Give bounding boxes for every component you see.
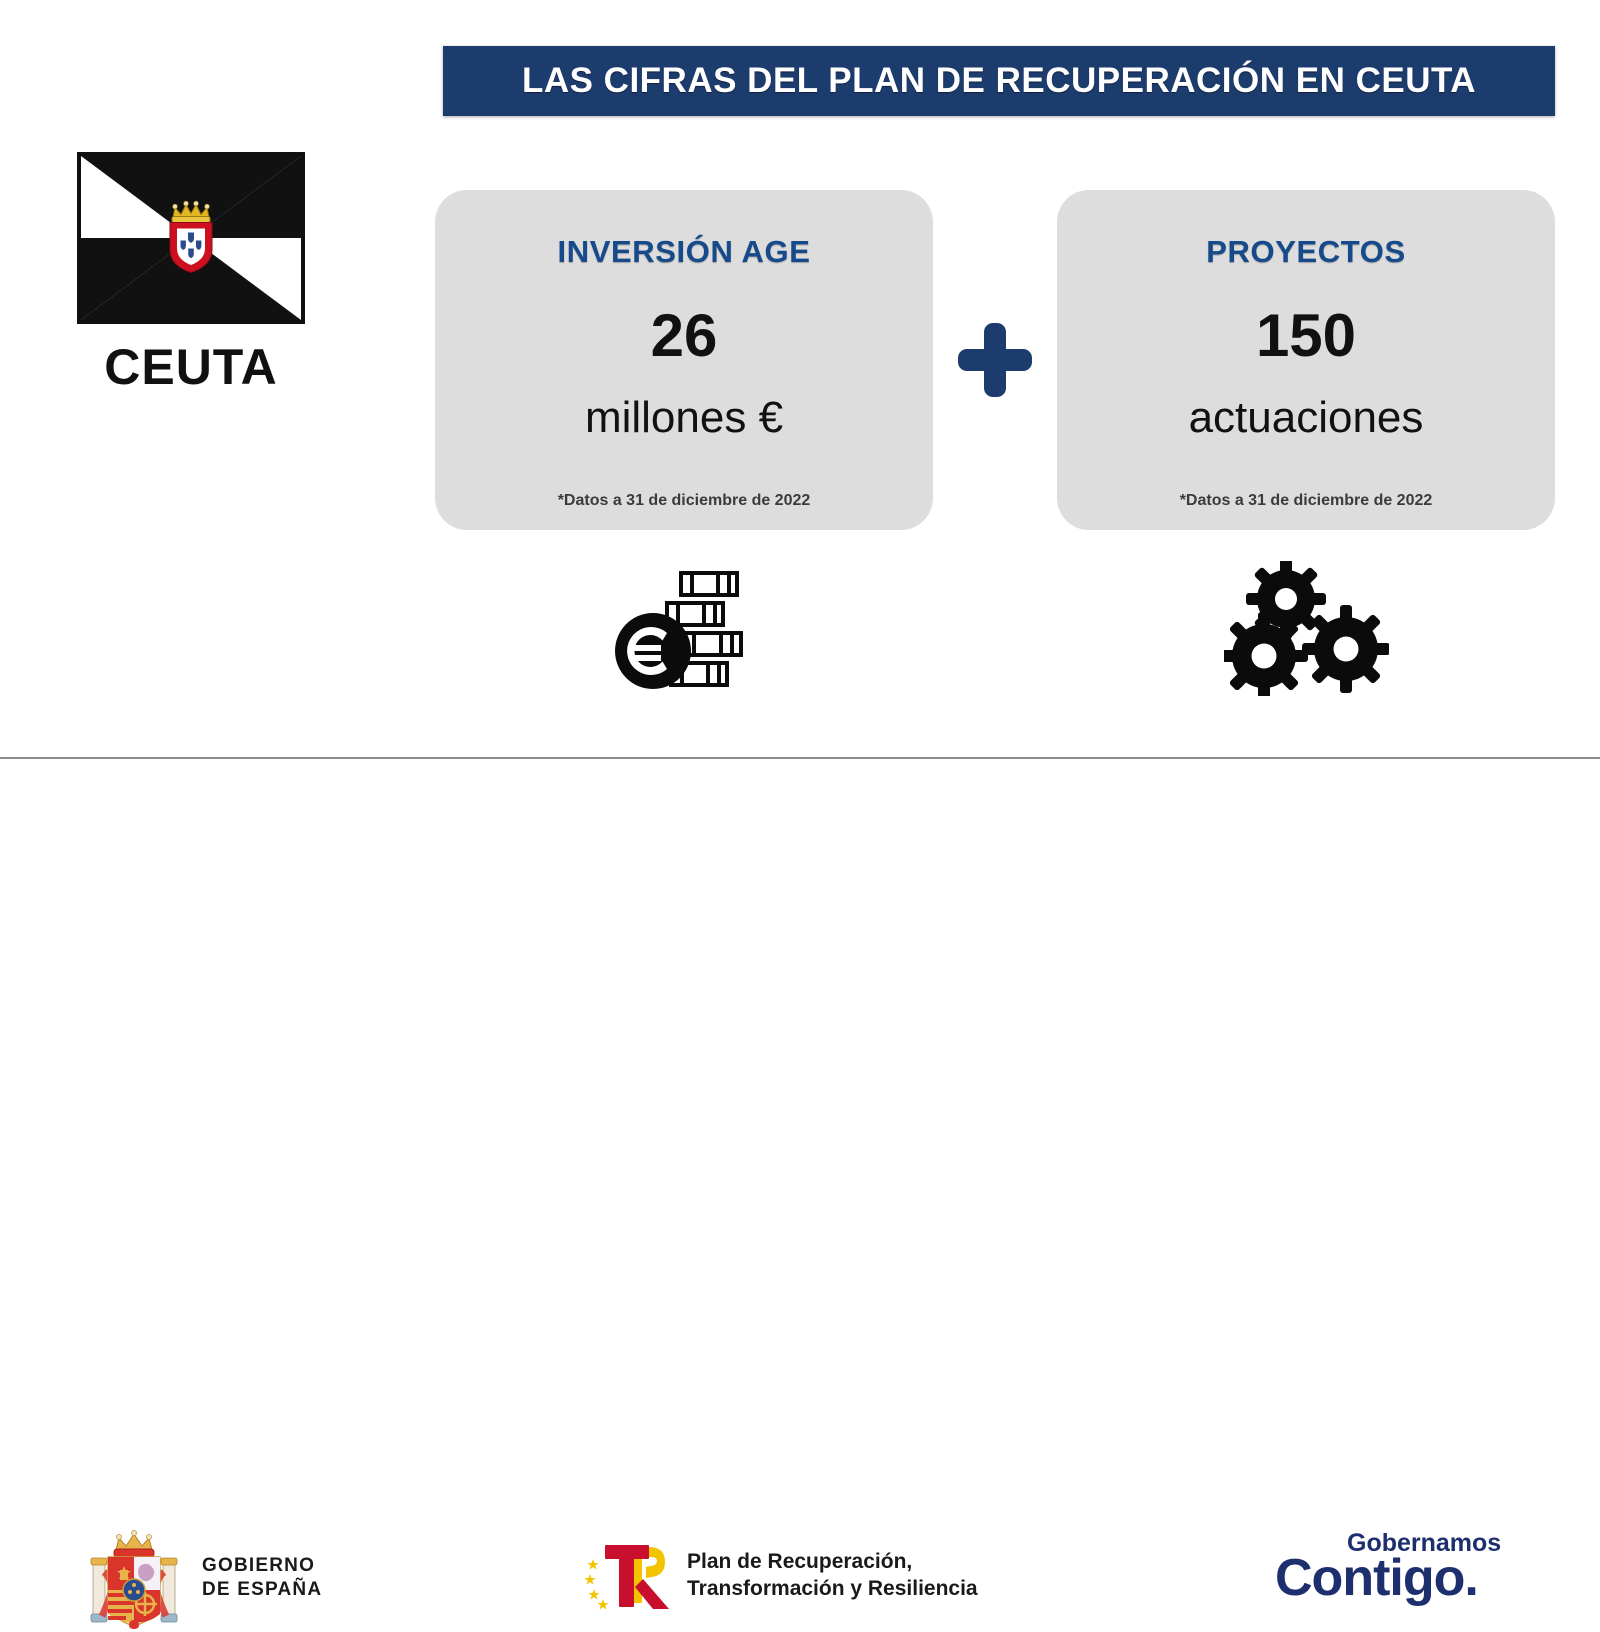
logo-gobierno-text: GOBIERNO DE ESPAÑA bbox=[202, 1554, 322, 1602]
icons-row bbox=[435, 548, 1555, 708]
icon-slot-gears bbox=[1057, 561, 1555, 696]
region-block: CEUTA bbox=[76, 152, 306, 392]
plus-bar-vertical bbox=[984, 323, 1006, 397]
icon-slot-money bbox=[435, 563, 933, 693]
logo-plan-recuperacion: Plan de Recuperación, Transformación y R… bbox=[583, 1539, 978, 1611]
card-title: INVERSIÓN AGE bbox=[435, 234, 933, 270]
logo-gobierno-de-espana: GOBIERNO DE ESPAÑA bbox=[80, 1524, 322, 1632]
plus-icon bbox=[958, 323, 1032, 397]
stat-card-proyectos: PROYECTOS 150 actuaciones *Datos a 31 de… bbox=[1057, 190, 1555, 530]
page-title: LAS CIFRAS DEL PLAN DE RECUPERACIÓN EN C… bbox=[522, 61, 1476, 101]
logo-gobierno-line2: DE ESPAÑA bbox=[202, 1578, 322, 1602]
stats-row: INVERSIÓN AGE 26 millones € *Datos a 31 … bbox=[435, 190, 1555, 530]
card-unit: millones € bbox=[435, 396, 933, 440]
stat-card-inversion: INVERSIÓN AGE 26 millones € *Datos a 31 … bbox=[435, 190, 933, 530]
card-footnote: *Datos a 31 de diciembre de 2022 bbox=[1057, 492, 1555, 510]
logo-gobierno-line1: GOBIERNO bbox=[202, 1554, 322, 1578]
card-value: 150 bbox=[1057, 306, 1555, 366]
card-footnote: *Datos a 31 de diciembre de 2022 bbox=[435, 492, 933, 510]
region-name: CEUTA bbox=[104, 342, 278, 392]
card-title: PROYECTOS bbox=[1057, 234, 1555, 270]
logo-prtr-line1: Plan de Recuperación, bbox=[687, 1548, 978, 1575]
euro-coins-icon bbox=[609, 563, 759, 693]
prtr-logo-icon bbox=[583, 1539, 675, 1611]
logo-prtr-line2: Transformación y Resiliencia bbox=[687, 1575, 978, 1602]
card-unit: actuaciones bbox=[1057, 396, 1555, 440]
logo-prtr-text: Plan de Recuperación, Transformación y R… bbox=[687, 1548, 978, 1603]
spain-coat-of-arms-icon bbox=[80, 1524, 188, 1632]
card-value: 26 bbox=[435, 306, 933, 366]
ceuta-flag-icon bbox=[77, 152, 305, 324]
footer: GOBIERNO DE ESPAÑA bbox=[0, 759, 1600, 900]
page-title-banner: LAS CIFRAS DEL PLAN DE RECUPERACIÓN EN C… bbox=[443, 46, 1555, 116]
ceuta-coat-of-arms-icon bbox=[163, 200, 219, 274]
gears-icon bbox=[1224, 561, 1389, 696]
logo-contigo-line2: Contigo. bbox=[1275, 1552, 1501, 1604]
separator-plus bbox=[933, 190, 1057, 530]
logo-gobernamos-contigo: Gobernamos Contigo. bbox=[1275, 1531, 1501, 1604]
